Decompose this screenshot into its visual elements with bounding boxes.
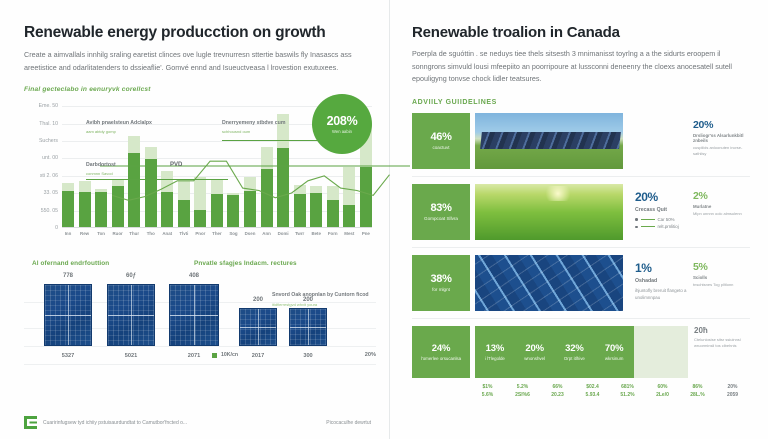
band-cell-value: 20% [515, 343, 555, 354]
chart-x-tick: Tho [145, 231, 157, 236]
chart-x-tick: Sog [227, 231, 239, 236]
chart-x-tick: Ann [261, 231, 273, 236]
solar-panel-image [107, 284, 155, 346]
row-rail: 20%Drsliogr'ss Alsarlunkbitl znbeilscusp… [688, 113, 750, 169]
stat-tile-caption: for mlgnt [432, 287, 450, 293]
section-a-title: Al ofernand endrfouttion [32, 260, 109, 267]
stat-tile: 46%coactuvt [412, 113, 470, 169]
bar-line-chart: Eme. 50Thal. 10Suchersunt. 00sti 2. 0633… [24, 102, 376, 252]
stat-tile-value: 46% [430, 131, 451, 143]
row-rail: 5%Sciollstnschtsnes Tog plltlonn [688, 255, 750, 311]
row-middle: 20%Crecass QuitCar 50%relt.prnlitioj [623, 184, 688, 240]
panel-bar-group: 4082071 [169, 284, 219, 346]
stat-tile-value: 38% [430, 273, 451, 285]
panel-bars-row: 778532760ƒ502140820712002017200300 Snvor… [24, 276, 376, 364]
panel-bar-group: 200300 [289, 308, 327, 346]
solar-panel-image [44, 284, 92, 346]
footer-left-group: Cuaririnfugsew tyd ichiiy pstuisaurdundt… [24, 416, 187, 429]
tick-cell: 681%51.2% [610, 384, 645, 398]
infographic-page: Renewable energy producction on growth C… [0, 0, 768, 439]
chart-callout-c: Dnerryemeny stbdve cum schhousnd oum [222, 120, 302, 141]
panel-annotation: Snvord Oak anopnlan by Cuntorn ficod iti… [272, 292, 370, 307]
band-cell-value: 13% [475, 343, 515, 354]
callout-c-title: Dnerryemeny stbdve cum [222, 120, 302, 128]
bar-segment-bottom [79, 192, 91, 227]
summary-band: 24% l'omerlee orsucanlsa 13%i lTlegolde2… [412, 326, 750, 378]
tick-primary: 60% [645, 384, 680, 390]
summary-band-rail: 20ħ Cteluniosise sitsr ssiuinnsl wruormi… [688, 326, 750, 378]
bar-segment-top [62, 183, 74, 190]
stat-tile: 83%Gompcoat Sllvra [412, 184, 470, 240]
legend-item-label: relt.prnlitioj [658, 224, 679, 229]
tick-cell: 86%28L.% [680, 384, 715, 398]
band-rail-value: 20ħ [694, 326, 750, 335]
panel-bar-footer: 5327 [44, 353, 92, 359]
callout-b-title: Darbdortost [86, 162, 176, 170]
chart-x-tick: Rew [79, 231, 91, 236]
summary-band-tile: 24% l'omerlee orsucanlsa [412, 326, 470, 378]
chart-bar [62, 106, 74, 227]
brand-logo-icon [24, 416, 37, 429]
panel-bar-group: 7785327 [44, 284, 92, 346]
tick-cell: $1%5.6% [470, 384, 505, 398]
stat-tile-caption: coactuvt [432, 145, 449, 151]
callout-a-title: Avibh pnaelsteun Adclalpx [86, 120, 170, 128]
tick-cell: 60%2Le/0 [645, 384, 680, 398]
tick-spacer [412, 384, 470, 398]
panel-axis [24, 364, 376, 365]
solar-panel-image [289, 308, 327, 346]
solar-panel-image [239, 308, 277, 346]
badge-caption: Wen aabin [332, 129, 352, 134]
row-metric-value: 20% [635, 190, 688, 204]
left-deck: Create a aimvallals innhilg sraling eare… [24, 49, 371, 74]
panel-annotation-title: Snvord Oak anopnlan by Cuntorn ficod [272, 292, 370, 300]
guideline-row: 46%coactuvt20%Drsliogr'ss Alsarlunkbitl … [412, 113, 750, 177]
summary-band-blank [634, 326, 688, 378]
panel-bar-footer: 5021 [107, 353, 155, 359]
row-legend-item: relt.prnlitioj [635, 224, 688, 229]
chart-y-axis: Eme. 50Thal. 10Suchersunt. 00sti 2. 0633… [24, 102, 60, 228]
stat-tile-value: 83% [430, 202, 451, 214]
tick-secondary: 20.23 [540, 392, 575, 398]
callout-b-sub: conmnn Savod [86, 171, 176, 177]
band-cell: 70%wkrsinum [594, 343, 634, 361]
chart-callout-b: Darbdortost conmnn Savod [86, 162, 176, 180]
panel-bar-value: 778 [44, 273, 92, 279]
chart-x-tick: Forn [327, 231, 339, 236]
tick-secondary: 5.93.4 [575, 392, 610, 398]
right-eyebrow: ADVIILY GUIIDELINES [412, 99, 750, 106]
tick-cell: 20%2059 [715, 384, 750, 398]
panel-grid-3 [24, 346, 376, 347]
panel-bar-value: 408 [169, 273, 219, 279]
tick-primary: 681% [610, 384, 645, 390]
band-cell-caption: wkrsinum [594, 356, 634, 361]
callout-b-rule [86, 179, 228, 180]
row-rail: 2%MurlatneMlpn unnnn oolc almsulenn [688, 184, 750, 240]
rail-caption: Murlatne [693, 204, 750, 209]
tick-secondary: 2059 [715, 392, 750, 398]
left-eyebrow: Final gecteclabo in eenuryvk corellcst [24, 86, 371, 93]
guideline-rows: 46%coactuvt20%Drsliogr'ss Alsarlunkbitl … [412, 113, 750, 319]
chart-y-tick: sti 2. 06 [40, 173, 58, 179]
chart-x-tick: Bete [310, 231, 322, 236]
chart-y-tick: Suchers [39, 138, 58, 144]
band-cell-value: 70% [594, 343, 634, 354]
chart-x-tick: Tlvti [178, 231, 190, 236]
legend-item-label: Car 50% [658, 217, 675, 222]
rail-value: 5% [693, 261, 750, 273]
band-cell-caption: Orpt itlhive [555, 356, 595, 361]
footer-right-text: Picocaculhe dewrtut [326, 420, 371, 426]
row-metric-sub: ihjuntofly breruit flangeto a unolimnnpa… [635, 287, 688, 301]
tail-percent: 20% [365, 352, 376, 358]
band-cell: 13%i lTlegolde [475, 343, 515, 361]
tick-cell: 5.2%2SI%6 [505, 384, 540, 398]
chart-x-tick: Mest [343, 231, 355, 236]
tick-secondary: 28L.% [680, 392, 715, 398]
panel-legend: 10K/cn [212, 352, 238, 358]
section-b-title: Pnvatle sfagjes Indacm. rectures [194, 260, 297, 267]
panel-annotation-sub: itidfierrestgvd whvit youra [272, 302, 370, 307]
tick-cell: 66%20.23 [540, 384, 575, 398]
row-middle: 1%Oshadadihjuntofly breruit flangeto a u… [623, 255, 688, 311]
tick-primary: 5.2% [505, 384, 540, 390]
chart-y-tick: unt. 00 [42, 155, 58, 161]
row-metric-value: 1% [635, 261, 688, 275]
row-metric-caption: Oshadad [635, 278, 688, 284]
chart-x-tick: Dsen [244, 231, 256, 236]
rail-sub: tnschtsnes Tog plltlonn [693, 282, 750, 289]
tick-secondary: 2Le/0 [645, 392, 680, 398]
band-cell-caption: i lTlegolde [475, 356, 515, 361]
stat-tile: 38%for mlgnt [412, 255, 470, 311]
rail-sub: cuspliids anloonuten incrse-sathlisy [693, 145, 750, 158]
band-cell-value: 32% [555, 343, 595, 354]
tick-secondary: 5.6% [470, 392, 505, 398]
tick-cell: $02.45.93.4 [575, 384, 610, 398]
band-cell-caption: wnonshvel [515, 356, 555, 361]
rail-sub: Mlpn unnnn oolc almsulenn [693, 211, 750, 218]
legend-line-icon [641, 226, 655, 227]
summary-band-cells: 13%i lTlegolde20%wnonshvel32%Orpt itlhiv… [475, 326, 634, 378]
chart-x-tick: Ruor [112, 231, 124, 236]
chart-callout-a: Avibh pnaelsteun Adclalpx aam abtdy gomp [86, 120, 170, 134]
chart-x-tick: Thur [128, 231, 140, 236]
tick-primary: 66% [540, 384, 575, 390]
left-headline: Renewable energy producction on growth [24, 24, 371, 42]
tick-primary: $1% [470, 384, 505, 390]
photo-solar-field [475, 113, 623, 169]
row-legend: Car 50%relt.prnlitioj [635, 217, 688, 230]
row-middle [623, 113, 688, 169]
panel-bar-footer: 2017 [239, 353, 277, 359]
chart-y-tick: 550. 05 [41, 208, 58, 214]
chart-y-tick: 0 [55, 225, 58, 231]
growth-badge: 208% Wen aabin [312, 94, 372, 154]
chart-x-tick: Anat [161, 231, 173, 236]
footer-text: Cuaririnfugsew tyd ichiiy pstuisaurdundt… [43, 420, 187, 426]
right-page: Renewable troalion in Canada Poerpla de … [390, 0, 768, 439]
panel-bar-value: 60ƒ [107, 273, 155, 279]
left-footer: Cuaririnfugsew tyd ichiiy pstuisaurdundt… [24, 416, 371, 429]
rail-value: 20% [693, 119, 750, 131]
legend-dot-icon [635, 226, 638, 229]
rail-caption: Sciolls [693, 275, 750, 280]
tick-primary: 20% [715, 384, 750, 390]
chart-y-tick: 33. 05 [44, 190, 58, 196]
stat-tile-caption: Gompcoat Sllvra [424, 216, 458, 222]
chart-pvd-label: PVD [170, 162, 182, 168]
panel-tail-percents: 20% [365, 352, 376, 358]
panel-bar-footer: 300 [289, 353, 327, 359]
chart-y-tick: Thal. 10 [39, 121, 58, 127]
band-cell: 20%wnonshvel [515, 343, 555, 361]
tick-primary: 86% [680, 384, 715, 390]
chart-x-tick: Ther [211, 231, 223, 236]
chart-x-tick: Pne [360, 231, 372, 236]
chart-x-tick: Ton [95, 231, 107, 236]
panel-bar-group: 60ƒ5021 [107, 284, 155, 346]
rail-value: 2% [693, 190, 750, 202]
band-tile-caption: l'omerlee orsucanlsa [421, 356, 461, 361]
row-metric-caption: Crecass Quit [635, 207, 688, 213]
panel-bar-group: 2002017 [239, 308, 277, 346]
photo-panel-close [475, 255, 623, 311]
panel-comparison-section: Al ofernand endrfouttion Pnvatle sfagjes… [24, 260, 376, 382]
row-legend-item: Car 50% [635, 217, 688, 222]
bar-segment-top [79, 181, 91, 192]
photo-grass [475, 184, 623, 240]
solar-panel-image [169, 284, 219, 346]
guideline-row: 83%Gompcoat Sllvra20%Crecass QuitCar 50%… [412, 184, 750, 248]
rail-caption: Drsliogr'ss Alsarlunkbitl znbeils [693, 133, 750, 143]
badge-value: 208% [327, 114, 358, 128]
chart-x-axis: InnRewTonRuorThurThoAnatTlvtiPnorTherSog… [62, 231, 372, 236]
chart-x-tick: Inn [62, 231, 74, 236]
guideline-row: 38%for mlgnt1%Oshadadihjuntofly breruit … [412, 255, 750, 319]
chart-x-tick: Domi [277, 231, 289, 236]
band-tile-value: 24% [432, 343, 450, 354]
band-rail-sub: Cteluniosise sitsr ssiuinnsl wruorminsli… [694, 337, 750, 350]
chart-x-tick: Twrr [294, 231, 306, 236]
band-cell: 32%Orpt itlhive [555, 343, 595, 361]
summary-tick-row: $1%5.6%5.2%2SI%666%20.23$02.45.93.4681%5… [412, 384, 750, 398]
left-page: Renewable energy producction on growth C… [0, 0, 390, 439]
bar-segment-bottom [62, 191, 74, 228]
right-headline: Renewable troalion in Canada [412, 24, 750, 41]
legend-swatch-icon [212, 353, 217, 358]
tick-primary: $02.4 [575, 384, 610, 390]
chart-y-tick: Eme. 50 [39, 103, 58, 109]
legend-label: 10K/cn [221, 352, 238, 358]
callout-a-sub: aam abtdy gomp [86, 129, 170, 135]
chart-x-tick: Pnor [194, 231, 206, 236]
tick-secondary: 51.2% [610, 392, 645, 398]
tick-secondary: 2SI%6 [505, 392, 540, 398]
legend-dot-icon [635, 218, 638, 221]
legend-line-icon [641, 219, 655, 220]
right-deck: Poerpla de sguóttin . se neduys tiee the… [412, 48, 750, 86]
callout-c-sub: schhousnd oum [222, 129, 302, 135]
